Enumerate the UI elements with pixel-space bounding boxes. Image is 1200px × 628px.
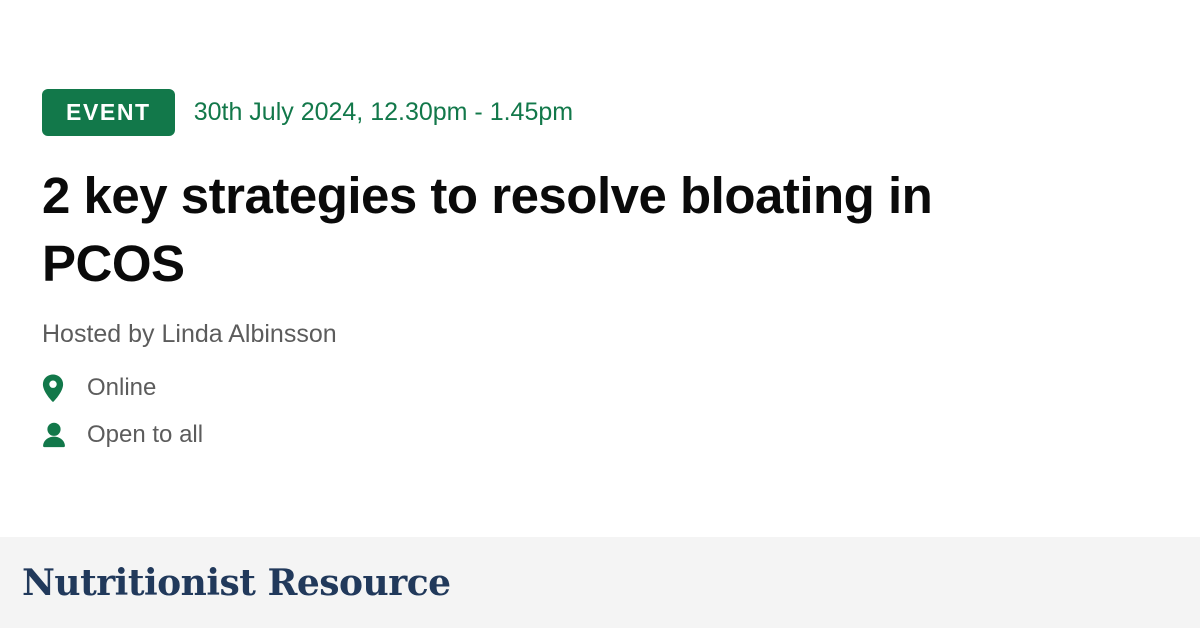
event-title: 2 key strategies to resolve bloating in … — [42, 162, 1052, 298]
event-host: Hosted by Linda Albinsson — [42, 322, 1200, 347]
event-type-badge: EVENT — [42, 89, 175, 136]
event-meta-row: EVENT 30th July 2024, 12.30pm - 1.45pm — [42, 89, 1200, 136]
nutritionist-resource-logo: Nutritionist Resource — [22, 565, 451, 601]
event-details-list: Online Open to all — [42, 373, 1200, 450]
event-card-content: EVENT 30th July 2024, 12.30pm - 1.45pm 2… — [0, 0, 1200, 537]
person-icon — [42, 422, 72, 448]
location-pin-icon — [42, 374, 72, 402]
event-date-time: 30th July 2024, 12.30pm - 1.45pm — [194, 100, 573, 125]
footer-bar: Nutritionist Resource — [0, 537, 1200, 628]
event-detail-audience: Open to all — [42, 420, 1200, 450]
event-card: EVENT 30th July 2024, 12.30pm - 1.45pm 2… — [0, 0, 1200, 628]
event-detail-location: Online — [42, 373, 1200, 403]
event-detail-location-label: Online — [87, 376, 156, 400]
event-detail-audience-label: Open to all — [87, 423, 203, 447]
